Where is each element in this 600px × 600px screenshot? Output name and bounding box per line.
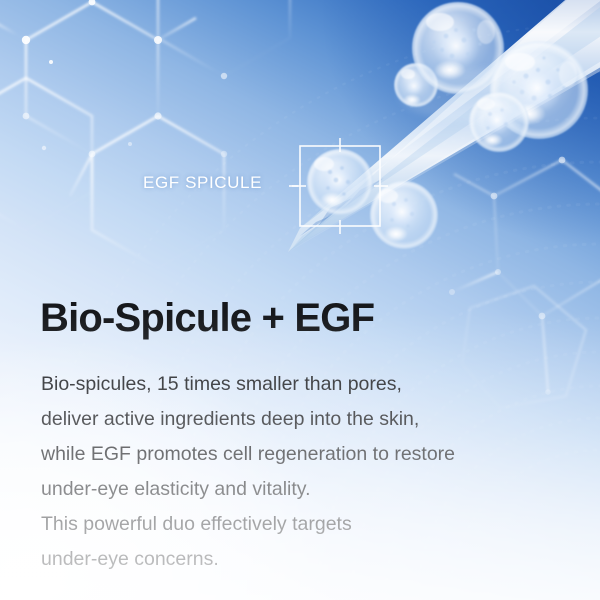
callout-label: EGF SPICULE — [143, 173, 262, 193]
description-line: Bio-spicules, 15 times smaller than pore… — [41, 367, 561, 402]
description-line: while EGF promotes cell regeneration to … — [41, 437, 561, 472]
description-line: under-eye elasticity and vitality. — [41, 472, 561, 507]
description-line: This powerful duo effectively targets — [41, 507, 561, 542]
product-banner: EGF SPICULE Bio-Spicule + EGF Bio-spicul… — [0, 0, 600, 600]
description-line: under-eye concerns. — [41, 542, 561, 577]
description-block: Bio-spicules, 15 times smaller than pore… — [41, 367, 561, 577]
page-title: Bio-Spicule + EGF — [40, 296, 374, 341]
description-line: deliver active ingredients deep into the… — [41, 402, 561, 437]
